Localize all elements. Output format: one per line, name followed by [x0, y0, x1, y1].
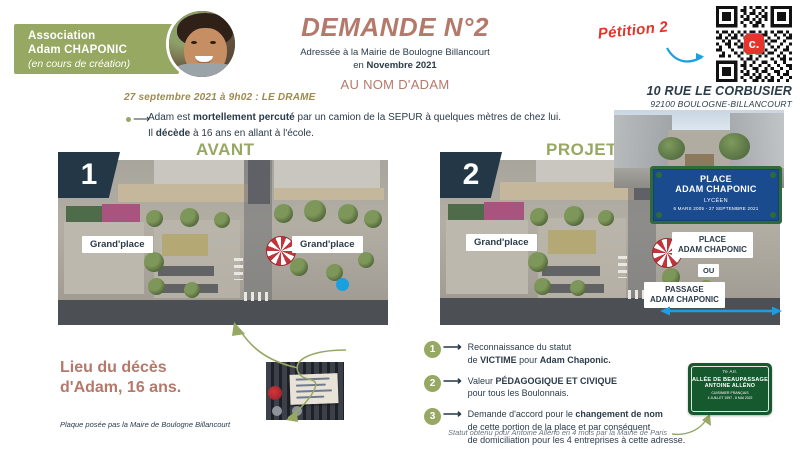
panel-heading-projet: PROJET [546, 140, 617, 160]
bullet-dot-icon [126, 117, 131, 122]
association-badge: Association Adam CHAPONIC (en cours de c… [14, 24, 179, 74]
map-tree [528, 252, 548, 272]
map-tree [144, 252, 164, 272]
demand1-line2-a: de [468, 355, 481, 365]
demand3-line1-a: Demande d'accord pour le [468, 409, 576, 419]
death-location-marker [336, 278, 349, 291]
drama-line2-b: décède [156, 128, 190, 139]
drama-line1-c: par un camion de la SEPUR à quelques mèt… [295, 112, 561, 123]
subtitle-line2-prefix: en [353, 60, 366, 71]
petition-label: Pétition 2 [577, 16, 688, 44]
map-works [118, 184, 248, 202]
death-place-title: Lieu du décès d'Adam, 16 ans. [60, 358, 181, 398]
avatar-eye-left [191, 41, 197, 44]
map-tree [146, 210, 163, 227]
death-place-line2: d'Adam, 16 ans. [60, 378, 181, 398]
street-sign-line3: LYCÉEN [653, 198, 779, 204]
map-label-ou: OU [698, 264, 719, 277]
map-plaza [446, 220, 528, 294]
map-label-place-adam-chaponic: PLACE ADAM CHAPONIC [672, 232, 753, 258]
title-subtitle: Adressée à la Mairie de Boulogne Billanc… [250, 46, 540, 73]
demand2-line1-b: PÉDAGOGIQUE ET CIVIQUE [496, 376, 618, 386]
street-view-tree [658, 137, 685, 160]
memorial-curl-arrow-icon [286, 348, 350, 422]
map-building [154, 160, 244, 186]
map-label-grandplace-right: Grand'place [292, 236, 363, 253]
demand2-line2: pour tous les Boulonnais. [468, 387, 617, 400]
map-crosswalk [234, 258, 243, 280]
paris-plaque-arrondissement: 7e Arr. [692, 369, 768, 374]
map-tree [530, 208, 548, 226]
demand-number-1: 1 [424, 341, 441, 358]
map-label-place-line1: PLACE [678, 235, 747, 245]
map-tree [148, 278, 165, 295]
poster-root: Association Adam CHAPONIC (en cours de c… [0, 0, 800, 450]
petition-arrow-icon [666, 44, 706, 66]
map-tree [364, 210, 382, 228]
map-tree [570, 280, 586, 296]
map-label-passage-adam-chaponic: PASSAGE ADAM CHAPONIC [644, 282, 725, 308]
map-label-passage-line1: PASSAGE [650, 285, 719, 295]
demand2-line1-a: Valeur [468, 376, 496, 386]
demand1-line2-c: pour [517, 355, 540, 365]
paris-street-plaque-antoine-alleno: 7e Arr. ALLÉE DE BEAUPASSAGE ANTOINE ALL… [688, 363, 772, 415]
avatar-eye-right [210, 41, 216, 44]
death-place-line1: Lieu du décès [60, 358, 181, 378]
sign-bolt-icon [656, 212, 662, 218]
sign-bolt-icon [770, 172, 776, 178]
sign-bolt-icon [770, 212, 776, 218]
demand-number-2: 2 [424, 375, 441, 392]
map-tree [274, 204, 293, 223]
subtitle-line1: Adressée à la Mairie de Boulogne Billanc… [250, 46, 540, 59]
paris-plaque-line2: ANTOINE ALLÉNO [692, 383, 768, 389]
street-sign-line4: 6 MARS 2005 - 27 SEPTEMBRE 2021 [653, 206, 779, 211]
street-sign-place-adam-chaponic: PLACE ADAM CHAPONIC LYCÉEN 6 MARS 2005 -… [650, 166, 782, 224]
qr-logo: c. [744, 34, 764, 54]
page-title: DEMANDE N°2 [250, 12, 540, 43]
map-crosswalk [618, 256, 627, 278]
arrow-right-icon: ⟶ [443, 340, 462, 354]
map-sportfield [484, 202, 524, 220]
memorial-flower [268, 386, 282, 400]
association-line3: (en cours de création) [28, 58, 169, 70]
drama-line2: Il décède à 16 ans en allant à l'école. [148, 126, 608, 142]
drama-line1-a: Adam est [148, 112, 193, 123]
paris-plaque-inner: 7e Arr. ALLÉE DE BEAUPASSAGE ANTOINE ALL… [691, 366, 769, 412]
demand1-line2: de VICTIME pour Adam Chaponic. [468, 354, 611, 367]
association-line2: Adam CHAPONIC [28, 44, 169, 58]
arrow-right-icon: ⟶ [443, 407, 462, 421]
map-label-grandplace: Grand'place [466, 234, 537, 251]
street-sign-line1: PLACE [653, 174, 779, 184]
map-street [58, 300, 388, 325]
demand1-line1: Reconnaissance du statut [468, 341, 611, 354]
avatar-shirt [173, 63, 237, 80]
map-tree [564, 206, 584, 226]
map-building [274, 160, 380, 190]
drama-line1-b: mortellement percuté [193, 112, 295, 123]
drama-date: 27 septembre 2021 à 9h02 : LE DRAME [124, 92, 316, 103]
title-block: DEMANDE N°2 Adressée à la Mairie de Boul… [250, 12, 540, 92]
street-view-tree [719, 133, 750, 160]
paris-plaque-line3: CUISINIER FRANÇAIS [692, 391, 768, 395]
address-line2: 92100 BOULOGNE-BILLANCOURT [592, 99, 792, 109]
street-sign-line2: ADAM CHAPONIC [653, 184, 779, 194]
death-place-caption: Plaque posée pas la Maire de Boulogne Bi… [60, 420, 230, 429]
title-au-nom: AU NOM D'ADAM [250, 77, 540, 92]
map-tree [338, 204, 358, 224]
map-label-passage-line2: ADAM CHAPONIC [650, 295, 719, 305]
demand3-line1: Demande d'accord pour le changement de n… [468, 408, 686, 421]
avatar [166, 8, 238, 80]
map-plaza [64, 222, 144, 294]
map-tree [358, 252, 374, 268]
map-label-place-line2: ADAM CHAPONIC [678, 245, 747, 255]
panel-heading-avant: AVANT [196, 140, 255, 160]
map-works [274, 188, 384, 200]
map-tree [598, 210, 614, 226]
address-line1: 10 RUE LE CORBUSIER [592, 84, 792, 98]
map-tree [290, 258, 308, 276]
map-tree [304, 200, 326, 222]
map-sportfield [102, 204, 140, 222]
subtitle-line2-bold: Novembre 2021 [366, 60, 436, 71]
demand3-line1-b: changement de nom [575, 409, 663, 419]
demand-text-2: Valeur PÉDAGOGIQUE ET CIVIQUE pour tous … [468, 374, 617, 401]
map-bench [542, 266, 600, 276]
demand-text-1: Reconnaissance du statut de VICTIME pour… [468, 340, 611, 367]
map-tree [184, 282, 200, 298]
map-tree [214, 212, 230, 228]
map-tree [180, 208, 199, 227]
map-kiosk [162, 234, 208, 256]
map-label-grandplace-left: Grand'place [82, 236, 153, 253]
drama-text: Adam est mortellement percuté par un cam… [148, 110, 608, 141]
demand-text-3: Demande d'accord pour le changement de n… [468, 407, 686, 446]
footnote-text: Statut obtenu pour Antoine Alléno en 4 m… [448, 428, 667, 437]
petition-label-wrap: Pétition 2 [578, 22, 688, 39]
footnote-pointer-arrow-icon [672, 414, 712, 438]
demand-number-3: 3 [424, 408, 441, 425]
paris-plaque-line4: 4 JUILLET 1997 - 8 MAI 2022 [692, 396, 768, 400]
association-line1: Association [28, 30, 169, 44]
address-block: 10 RUE LE CORBUSIER 92100 BOULOGNE-BILLA… [592, 84, 792, 109]
qr-code[interactable]: c. [716, 6, 792, 82]
drama-line1: Adam est mortellement percuté par un cam… [148, 110, 608, 126]
sign-bolt-icon [656, 172, 662, 178]
drama-line2-a: Il [148, 128, 156, 139]
map-bench [158, 266, 214, 276]
demand1-line2-d: Adam Chaponic. [540, 355, 611, 365]
drama-bullet-icon: ⟶ [126, 113, 150, 125]
drama-line2-c: à 16 ans en allant à l'école. [190, 128, 314, 139]
map-crosswalk [244, 292, 272, 301]
demand1-line2-b: VICTIME [480, 355, 517, 365]
map-kiosk [548, 230, 596, 254]
arrow-right-icon: ⟶ [443, 374, 462, 388]
passage-extent-double-arrow-icon [660, 306, 782, 316]
grate-bolt-icon [272, 406, 282, 416]
demand2-line1: Valeur PÉDAGOGIQUE ET CIVIQUE [468, 375, 617, 388]
subtitle-line2: en Novembre 2021 [250, 59, 540, 72]
map-tree [534, 278, 551, 295]
